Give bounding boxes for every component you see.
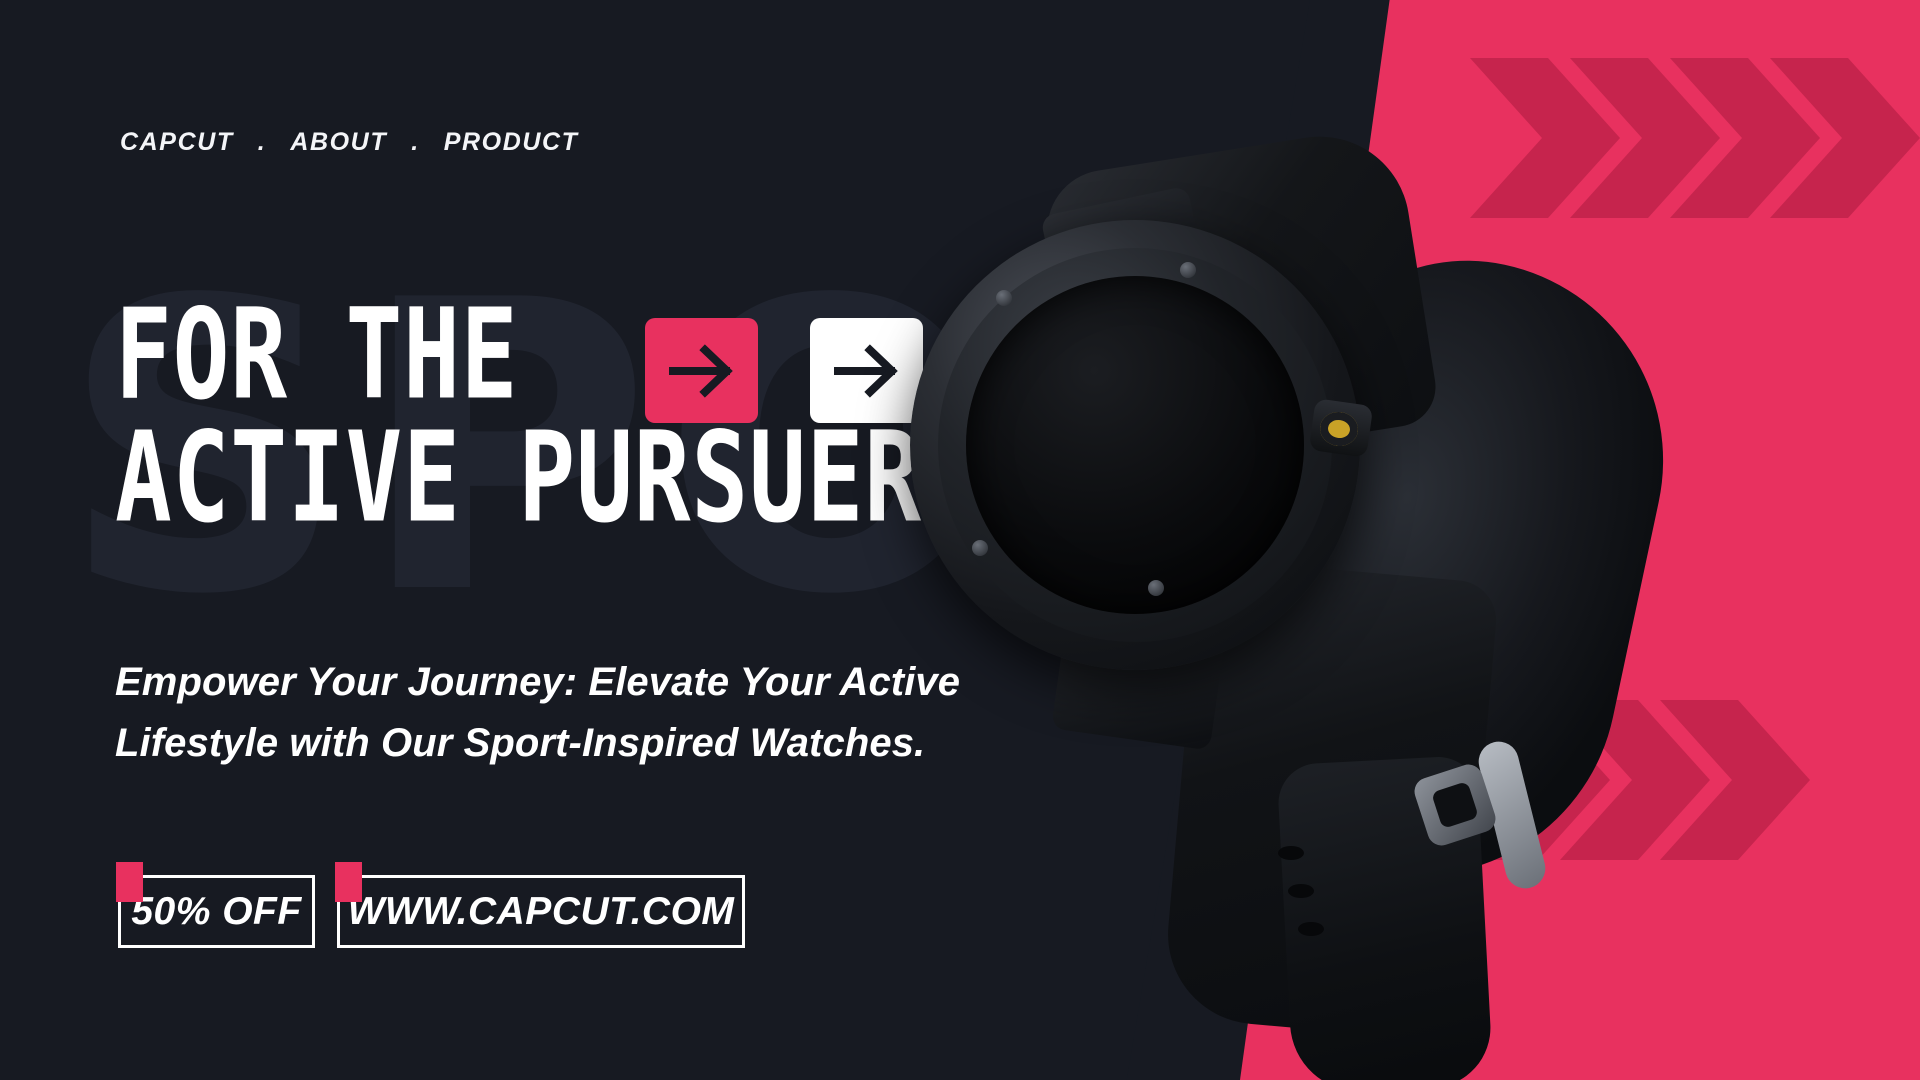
badge-accent-tick bbox=[116, 862, 143, 902]
nav-item-capcut[interactable]: CAPCUT bbox=[118, 128, 236, 157]
watch-screw bbox=[1180, 262, 1196, 278]
headline-line-1: FOR THE bbox=[115, 297, 518, 412]
watch-screw bbox=[972, 540, 988, 556]
nav-separator: . bbox=[236, 128, 289, 157]
badge-group: 50% OFF WWW.CAPCUT.COM bbox=[118, 875, 745, 948]
discount-badge[interactable]: 50% OFF bbox=[118, 875, 315, 948]
promo-banner: SPO CAPCUT . ABOUT . PRODUCT bbox=[0, 0, 1920, 1080]
badge-frame: 50% OFF bbox=[118, 875, 315, 948]
watch-screw bbox=[1148, 580, 1164, 596]
headline-line-2: ACTIVE PURSUER bbox=[115, 419, 922, 534]
nav-separator: . bbox=[389, 128, 442, 157]
arrow-right-icon bbox=[669, 343, 735, 399]
nav-item-about[interactable]: ABOUT bbox=[288, 128, 389, 157]
watch-screw bbox=[996, 290, 1012, 306]
strap-hole bbox=[1288, 884, 1314, 898]
website-badge[interactable]: WWW.CAPCUT.COM bbox=[337, 875, 745, 948]
watch-face-screen bbox=[966, 276, 1304, 614]
product-image-smart-watch bbox=[880, 140, 1640, 900]
top-navigation: CAPCUT . ABOUT . PRODUCT bbox=[118, 128, 581, 157]
badge-frame: WWW.CAPCUT.COM bbox=[337, 875, 745, 948]
strap-hole bbox=[1278, 846, 1304, 860]
badge-accent-tick bbox=[335, 862, 362, 902]
website-badge-label: WWW.CAPCUT.COM bbox=[326, 890, 757, 934]
strap-hole bbox=[1298, 922, 1324, 936]
cta-arrow-button-primary[interactable] bbox=[645, 318, 758, 423]
nav-item-product[interactable]: PRODUCT bbox=[442, 128, 581, 157]
